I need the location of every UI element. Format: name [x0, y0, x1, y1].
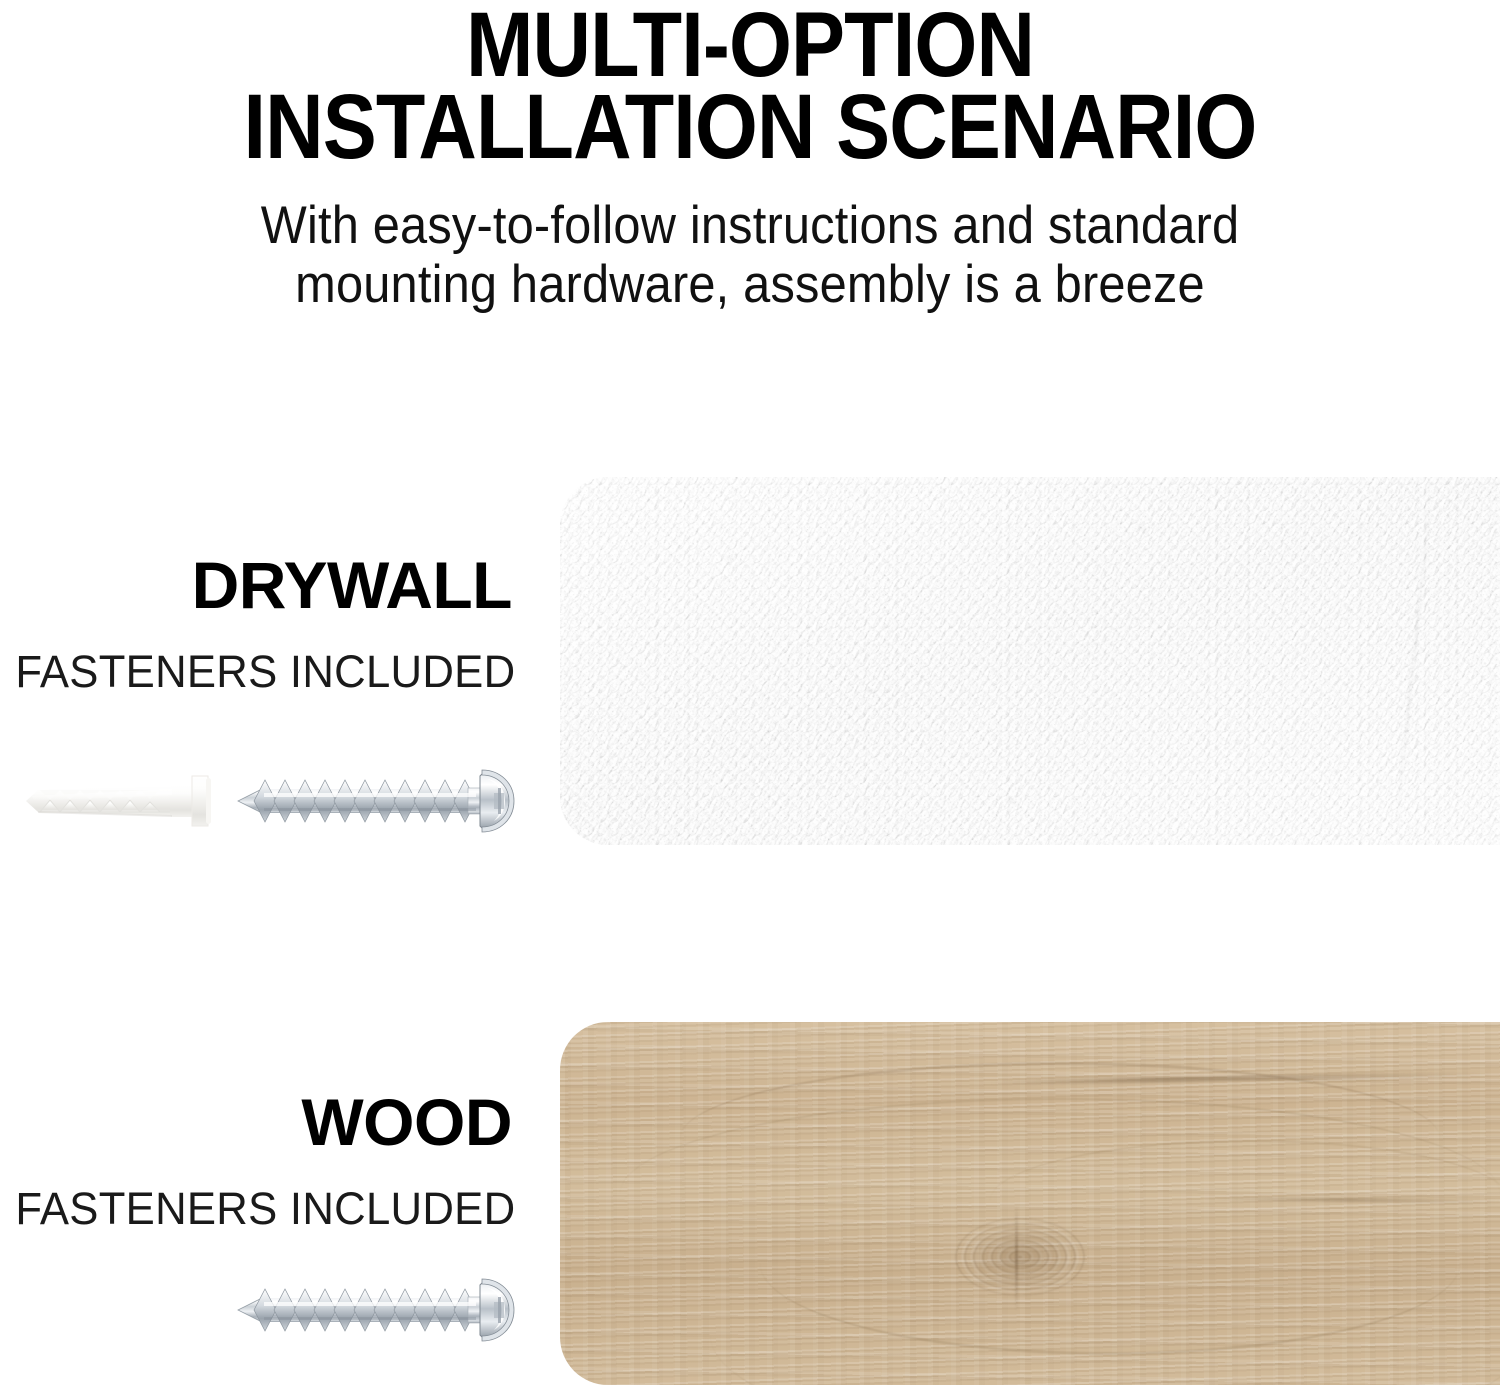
wood-grain-arc [710, 1218, 1500, 1385]
wood-subtext: FASTENERS INCLUDED [15, 1186, 512, 1232]
page-subtitle-line-2: mounting hardware, assembly is a breeze [60, 255, 1440, 314]
page-subtitle-line-1: With easy-to-follow instructions and sta… [60, 196, 1440, 255]
page-title: MULTI-OPTION INSTALLATION SCENARIO [90, 0, 1410, 168]
wood-knot [955, 1218, 1085, 1296]
drywall-subtext-block: FASTENERS INCLUDED [0, 649, 512, 695]
drywall-crack-detail [1393, 478, 1434, 844]
page-subtitle: With easy-to-follow instructions and sta… [60, 196, 1440, 314]
wood-grain-streak [990, 1072, 1490, 1086]
wood-grain-arc [680, 1062, 1440, 1215]
page-title-line-2: INSTALLATION SCENARIO [90, 86, 1410, 168]
page-title-line-1: MULTI-OPTION [90, 0, 1410, 86]
drywall-texture-panel [560, 477, 1500, 845]
wood-text-block: WOOD [0, 1089, 512, 1155]
wood-grain-panel [560, 1022, 1500, 1385]
plastic-wall-anchor-icon [22, 770, 218, 832]
drywall-screw-icon [232, 760, 520, 842]
wood-screw-icon [232, 1269, 520, 1351]
wood-knot-split-line [1015, 1204, 1018, 1312]
wood-grain-streak [1200, 1196, 1500, 1203]
drywall-text-block: DRYWALL [0, 552, 512, 618]
drywall-subtext: FASTENERS INCLUDED [15, 649, 512, 695]
header: MULTI-OPTION INSTALLATION SCENARIO With … [0, 0, 1500, 314]
wood-subtext-block: FASTENERS INCLUDED [0, 1186, 512, 1232]
wood-heading: WOOD [0, 1089, 512, 1155]
drywall-heading: DRYWALL [0, 552, 512, 618]
